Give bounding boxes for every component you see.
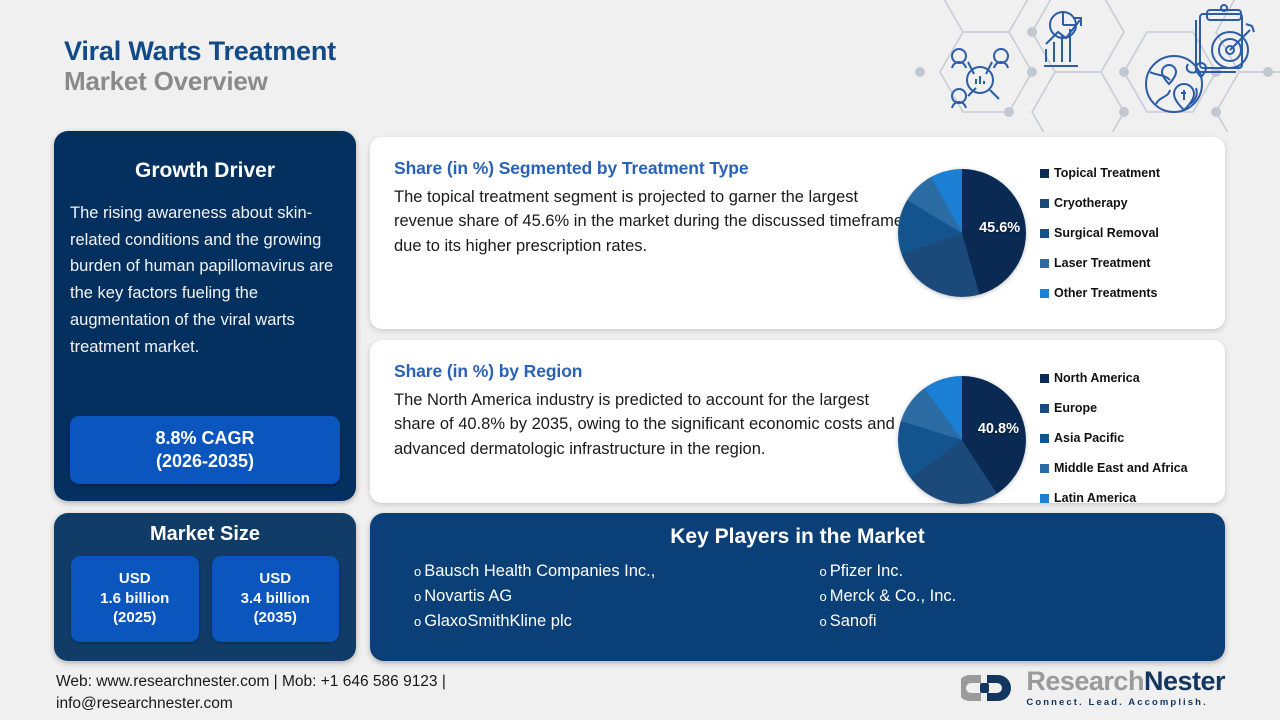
list-bullet-icon: o	[414, 590, 421, 603]
legend-label: Europe	[1054, 401, 1097, 415]
legend-swatch-icon	[1040, 259, 1049, 268]
legend-swatch-icon	[1040, 199, 1049, 208]
market-size-currency: USD	[212, 569, 340, 589]
market-size-box: USD 1.6 billion (2025)	[71, 556, 199, 642]
region-chart: 40.8% North AmericaEuropeAsia PacificMid…	[898, 371, 1188, 509]
key-player-item: oNovartis AG	[414, 584, 820, 609]
treatment-pie-highlight-label: 45.6%	[979, 220, 1020, 236]
people-analytics-icon	[952, 49, 1008, 108]
market-size-title: Market Size	[54, 523, 356, 546]
global-commerce-icon	[1146, 56, 1206, 112]
legend-item: Cryotherapy	[1040, 196, 1160, 210]
growth-driver-body: The rising awareness about skin-related …	[70, 200, 340, 360]
clipboard-target-icon	[1196, 5, 1254, 72]
key-player-item: oMerck & Co., Inc.	[820, 584, 1226, 609]
legend-item: Laser Treatment	[1040, 256, 1160, 270]
legend-item: Latin America	[1040, 491, 1188, 505]
list-bullet-icon: o	[414, 565, 421, 578]
growth-driver-card: Growth Driver The rising awareness about…	[54, 131, 356, 501]
logo-word-research: Research	[1026, 666, 1144, 696]
cagr-badge: 8.8% CAGR (2026-2035)	[70, 416, 340, 484]
footer-line-1: Web: www.researchnester.com | Mob: +1 64…	[56, 671, 446, 693]
key-players-column-right: oPfizer Inc.oMerck & Co., Inc.oSanofi	[820, 559, 1226, 634]
region-body: The North America industry is predicted …	[394, 388, 904, 461]
region-pie-legend: North AmericaEuropeAsia PacificMiddle Ea…	[1040, 371, 1188, 509]
page-title: Viral Warts Treatment	[64, 36, 336, 67]
growth-chart-icon	[1044, 12, 1081, 66]
key-player-name: GlaxoSmithKline plc	[424, 609, 572, 634]
legend-label: North America	[1054, 371, 1140, 385]
market-size-card: Market Size USD 1.6 billion (2025) USD 3…	[54, 513, 356, 661]
legend-swatch-icon	[1040, 229, 1049, 238]
market-size-value: 1.6 billion	[71, 589, 199, 609]
legend-swatch-icon	[1040, 464, 1049, 473]
treatment-pie-chart: 45.6%	[898, 169, 1026, 297]
cagr-period: (2026-2035)	[70, 450, 340, 473]
logo-word-nester: Nester	[1144, 666, 1225, 696]
market-size-currency: USD	[71, 569, 199, 589]
legend-item: Asia Pacific	[1040, 431, 1188, 445]
infographic-page: Viral Warts Treatment Market Overview Gr…	[0, 0, 1280, 720]
key-player-item: oSanofi	[820, 609, 1226, 634]
key-player-name: Bausch Health Companies Inc.,	[424, 559, 655, 584]
legend-swatch-icon	[1040, 434, 1049, 443]
logo-tagline: Connect. Lead. Accomplish.	[1026, 698, 1225, 708]
growth-driver-title: Growth Driver	[54, 159, 356, 183]
market-size-value: 3.4 billion	[212, 589, 340, 609]
legend-item: Other Treatments	[1040, 286, 1160, 300]
key-player-name: Novartis AG	[424, 584, 512, 609]
legend-label: Surgical Removal	[1054, 226, 1159, 240]
key-players-columns: oBausch Health Companies Inc.,oNovartis …	[414, 559, 1225, 634]
legend-label: Latin America	[1054, 491, 1136, 505]
logo-mark-icon	[961, 671, 1017, 705]
legend-item: Topical Treatment	[1040, 166, 1160, 180]
legend-swatch-icon	[1040, 169, 1049, 178]
legend-swatch-icon	[1040, 289, 1049, 298]
legend-label: Other Treatments	[1054, 286, 1158, 300]
market-size-box: USD 3.4 billion (2035)	[212, 556, 340, 642]
list-bullet-icon: o	[414, 615, 421, 628]
legend-label: Laser Treatment	[1054, 256, 1151, 270]
treatment-type-body: The topical treatment segment is project…	[394, 185, 904, 258]
market-size-year: (2035)	[212, 608, 340, 628]
list-bullet-icon: o	[820, 615, 827, 628]
legend-swatch-icon	[1040, 404, 1049, 413]
page-header: Viral Warts Treatment Market Overview	[64, 36, 336, 97]
list-bullet-icon: o	[820, 565, 827, 578]
legend-label: Cryotherapy	[1054, 196, 1128, 210]
legend-swatch-icon	[1040, 374, 1049, 383]
legend-item: Middle East and Africa	[1040, 461, 1188, 475]
key-player-name: Merck & Co., Inc.	[830, 584, 957, 609]
key-player-item: oGlaxoSmithKline plc	[414, 609, 820, 634]
page-subtitle: Market Overview	[64, 67, 336, 97]
key-player-item: oBausch Health Companies Inc.,	[414, 559, 820, 584]
footer-contact: Web: www.researchnester.com | Mob: +1 64…	[56, 671, 446, 716]
key-player-item: oPfizer Inc.	[820, 559, 1226, 584]
list-bullet-icon: o	[820, 590, 827, 603]
region-pie-chart: 40.8%	[898, 376, 1026, 504]
legend-label: Topical Treatment	[1054, 166, 1160, 180]
legend-item: Surgical Removal	[1040, 226, 1160, 240]
region-pie-highlight-label: 40.8%	[978, 421, 1019, 437]
key-player-name: Pfizer Inc.	[830, 559, 903, 584]
market-size-year: (2025)	[71, 608, 199, 628]
market-size-values: USD 1.6 billion (2025) USD 3.4 billion (…	[71, 556, 339, 642]
research-nester-logo: ResearchNester Connect. Lead. Accomplish…	[961, 668, 1225, 708]
legend-label: Asia Pacific	[1054, 431, 1124, 445]
hexagon-network-decoration	[900, 0, 1280, 132]
legend-item: North America	[1040, 371, 1188, 385]
cagr-value: 8.8% CAGR	[70, 427, 340, 450]
logo-wordmark: ResearchNester Connect. Lead. Accomplish…	[1026, 668, 1225, 708]
key-players-card: Key Players in the Market oBausch Health…	[370, 513, 1225, 661]
key-players-column-left: oBausch Health Companies Inc.,oNovartis …	[414, 559, 820, 634]
treatment-type-chart: 45.6% Topical TreatmentCryotherapySurgic…	[898, 166, 1160, 300]
key-players-title: Key Players in the Market	[370, 525, 1225, 549]
legend-item: Europe	[1040, 401, 1188, 415]
legend-label: Middle East and Africa	[1054, 461, 1188, 475]
treatment-pie-legend: Topical TreatmentCryotherapySurgical Rem…	[1040, 166, 1160, 300]
legend-swatch-icon	[1040, 494, 1049, 503]
key-player-name: Sanofi	[830, 609, 877, 634]
footer-line-2: info@researchnester.com	[56, 693, 446, 715]
